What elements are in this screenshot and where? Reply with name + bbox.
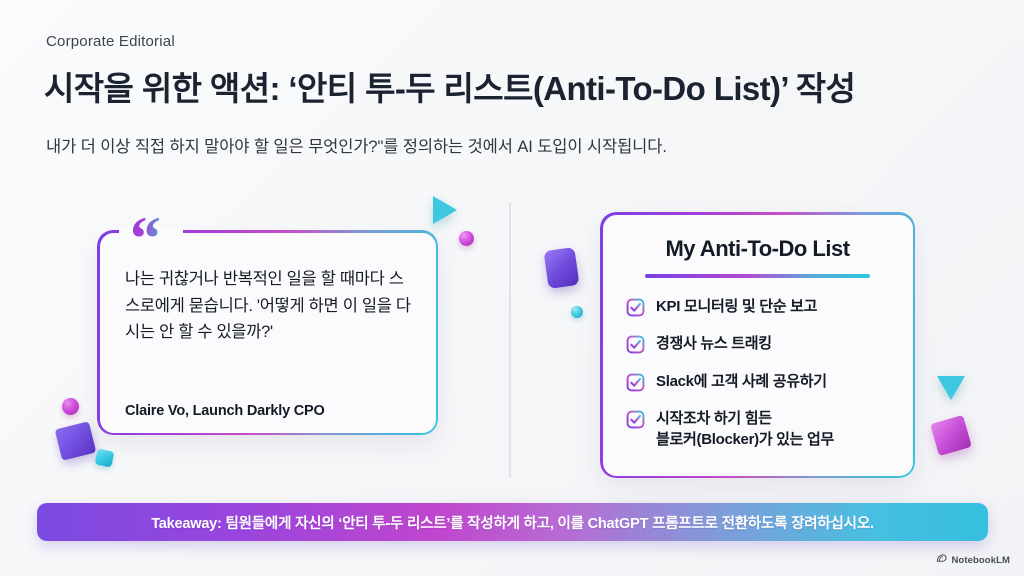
decor-triangle-cyan-right [937,376,965,400]
quote-mark-icon: “ [124,208,167,270]
column-divider [509,202,511,478]
page-subtitle: 내가 더 이상 직접 하지 말아야 할 일은 무엇인가?"를 정의하는 것에서 … [46,133,984,157]
list-item-label: KPI 모니터링 및 단순 보고 [656,296,817,317]
takeaway-text: Takeaway: 팀원들에게 자신의 ‘안티 투-두 리스트’를 작성하게 하… [151,512,874,533]
quote-author: Claire Vo, Launch Darkly CPO [125,403,325,419]
quote-card: “ 나는 귀찮거나 반복적인 일을 할 때마다 스스로에게 묻습니다. '어떻게… [97,230,438,435]
list-item[interactable]: KPI 모니터링 및 단순 보고 [626,296,901,317]
checkbox-checked-icon[interactable] [626,410,645,429]
checkbox-checked-icon[interactable] [626,298,645,317]
list-item-label: 경쟁사 뉴스 트래킹 [656,333,772,354]
decor-cube-purple-left [55,421,97,461]
list-item-label: Slack에 고객 사례 공유하기 [656,371,827,392]
decor-sphere-magenta-left [62,398,79,415]
decor-cube-magenta-right [930,415,972,456]
decor-triangle-cyan-top [433,196,457,224]
takeaway-banner: Takeaway: 팀원들에게 자신의 ‘안티 투-두 리스트’를 작성하게 하… [37,503,988,541]
eyebrow-label: Corporate Editorial [46,33,175,50]
page-title: 시작을 위한 액션: ‘안티 투-두 리스트(Anti-To-Do List)’… [44,70,984,109]
anti-todo-list-card: My Anti-To-Do List KPI 모니터링 및 단순 보고경쟁사 뉴… [600,212,915,478]
list-item[interactable]: 시작조차 하기 힘든 블로커(Blocker)가 있는 업무 [626,408,901,451]
list-item[interactable]: Slack에 고객 사례 공유하기 [626,371,901,392]
checkbox-checked-icon[interactable] [626,335,645,354]
title-underline [645,274,870,278]
list-item[interactable]: 경쟁사 뉴스 트래킹 [626,333,901,354]
list-item-label: 시작조차 하기 힘든 블로커(Blocker)가 있는 업무 [656,408,834,451]
decor-sphere-magenta-center [459,231,474,246]
decor-sphere-cyan-center [571,306,583,318]
slide-root: Corporate Editorial 시작을 위한 액션: ‘안티 투-두 리… [0,0,1024,576]
notebooklm-watermark: NotebookLM [936,553,1010,567]
notebooklm-label: NotebookLM [951,555,1010,566]
decor-cube-cyan-left [95,448,115,467]
checkbox-checked-icon[interactable] [626,373,645,392]
decor-cube-purple-center [544,247,580,289]
anti-todo-items: KPI 모니터링 및 단순 보고경쟁사 뉴스 트래킹Slack에 고객 사례 공… [626,296,901,450]
quote-text: 나는 귀찮거나 반복적인 일을 할 때마다 스스로에게 묻습니다. '어떻게 하… [125,266,418,346]
list-card-title: My Anti-To-Do List [600,236,915,262]
notebooklm-logo-icon [936,553,947,567]
